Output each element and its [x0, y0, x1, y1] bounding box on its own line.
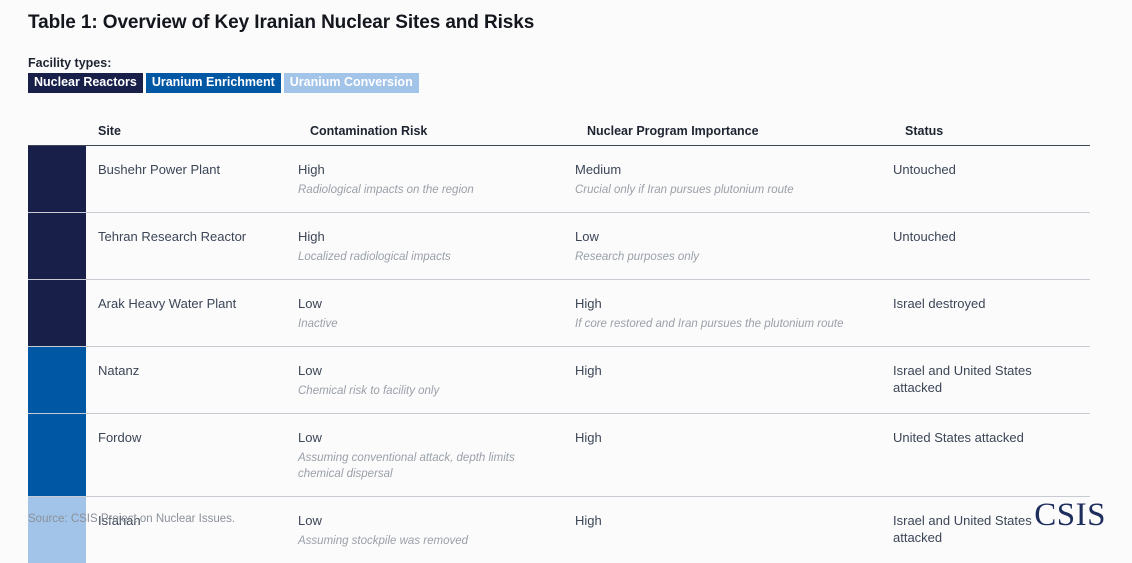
legend-badge-uranium-conversion[interactable]: Uranium Conversion [284, 73, 419, 93]
table-row: Arak Heavy Water PlantLowInactiveHighIf … [28, 280, 1090, 347]
contamination-risk-note: Chemical risk to facility only [298, 383, 561, 399]
nuclear-program-importance-value-cell: High [575, 347, 893, 413]
facility-type-swatch [28, 213, 86, 279]
contamination-risk-value-cell: LowInactive [298, 280, 575, 346]
site-name: Bushehr Power Plant [98, 161, 284, 178]
site-name: Fordow [98, 429, 284, 446]
contamination-risk-value-cell: HighLocalized radiological impacts [298, 213, 575, 279]
nuclear-program-importance-note: If core restored and Iran pursues the pl… [575, 316, 879, 332]
header-swatch-spacer [28, 124, 86, 138]
site-name-cell: Tehran Research Reactor [86, 213, 298, 279]
table-body: Bushehr Power PlantHighRadiological impa… [28, 146, 1090, 563]
contamination-risk-note: Localized radiological impacts [298, 249, 561, 265]
facility-type-swatch [28, 347, 86, 413]
nuclear-program-importance-value-cell: High [575, 497, 893, 563]
status-value-cell: Israel and United States attacked [893, 347, 1090, 413]
site-name-cell: Natanz [86, 347, 298, 413]
status-value: Untouched [893, 161, 1076, 178]
contamination-risk-value: Low [298, 362, 561, 379]
table-row: Bushehr Power PlantHighRadiological impa… [28, 146, 1090, 213]
legend-badge-nuclear-reactors[interactable]: Nuclear Reactors [28, 73, 143, 93]
status-value-cell: Untouched [893, 213, 1090, 279]
page-title: Table 1: Overview of Key Iranian Nuclear… [28, 12, 534, 34]
nuclear-program-importance-value-cell: LowResearch purposes only [575, 213, 893, 279]
legend-badges: Nuclear Reactors Uranium Enrichment Uran… [28, 73, 419, 93]
contamination-risk-note: Assuming stockpile was removed [298, 533, 561, 549]
site-name-cell: Fordow [86, 414, 298, 496]
nuclear-program-importance-value: Low [575, 228, 879, 245]
table-row: NatanzLowChemical risk to facility onlyH… [28, 347, 1090, 414]
status-value-cell: Untouched [893, 146, 1090, 212]
site-name: Tehran Research Reactor [98, 228, 284, 245]
nuclear-program-importance-value-cell: High [575, 414, 893, 496]
column-header-site: Site [86, 124, 310, 138]
contamination-risk-value: Low [298, 512, 561, 529]
status-value-cell: United States attacked [893, 414, 1090, 496]
nuclear-program-importance-value-cell: HighIf core restored and Iran pursues th… [575, 280, 893, 346]
table-row: FordowLowAssuming conventional attack, d… [28, 414, 1090, 497]
nuclear-program-importance-value: High [575, 512, 879, 529]
source-note: Source: CSIS Project on Nuclear Issues. [28, 513, 235, 525]
table-header-row: Site Contamination Risk Nuclear Program … [28, 124, 1090, 146]
contamination-risk-value: Low [298, 429, 561, 446]
contamination-risk-value-cell: LowAssuming stockpile was removed [298, 497, 575, 563]
contamination-risk-value: Low [298, 295, 561, 312]
contamination-risk-note: Radiological impacts on the region [298, 182, 561, 198]
contamination-risk-value: High [298, 161, 561, 178]
nuclear-program-importance-value: High [575, 295, 879, 312]
site-name-cell: Arak Heavy Water Plant [86, 280, 298, 346]
nuclear-program-importance-value: High [575, 362, 879, 379]
site-name-cell: Isfahan [86, 497, 298, 563]
csis-logo: CSIS [1034, 497, 1106, 534]
contamination-risk-value-cell: LowAssuming conventional attack, depth l… [298, 414, 575, 496]
column-header-status: Status [905, 124, 1090, 138]
facility-type-swatch [28, 280, 86, 346]
nuclear-program-importance-note: Research purposes only [575, 249, 879, 265]
nuclear-program-importance-value-cell: MediumCrucial only if Iran pursues pluto… [575, 146, 893, 212]
facility-type-swatch [28, 497, 86, 563]
nuclear-program-importance-value: Medium [575, 161, 879, 178]
status-value: United States attacked [893, 429, 1076, 446]
contamination-risk-note: Assuming conventional attack, depth limi… [298, 450, 561, 482]
table-row: IsfahanLowAssuming stockpile was removed… [28, 497, 1090, 563]
column-header-nuclear-program-importance: Nuclear Program Importance [587, 124, 905, 138]
site-name: Arak Heavy Water Plant [98, 295, 284, 312]
table-figure: Table 1: Overview of Key Iranian Nuclear… [0, 0, 1132, 557]
status-value-cell: Israel destroyed [893, 280, 1090, 346]
table-row: Tehran Research ReactorHighLocalized rad… [28, 213, 1090, 280]
column-header-contamination-risk: Contamination Risk [310, 124, 587, 138]
contamination-risk-value-cell: HighRadiological impacts on the region [298, 146, 575, 212]
facility-type-swatch [28, 146, 86, 212]
facility-type-swatch [28, 414, 86, 496]
contamination-risk-note: Inactive [298, 316, 561, 332]
legend: Facility types: Nuclear Reactors Uranium… [28, 56, 419, 93]
contamination-risk-value-cell: LowChemical risk to facility only [298, 347, 575, 413]
contamination-risk-value: High [298, 228, 561, 245]
status-value: Israel and United States attacked [893, 362, 1076, 396]
nuclear-program-importance-note: Crucial only if Iran pursues plutonium r… [575, 182, 879, 198]
status-value: Untouched [893, 228, 1076, 245]
data-table: Site Contamination Risk Nuclear Program … [28, 124, 1090, 563]
site-name: Natanz [98, 362, 284, 379]
legend-badge-uranium-enrichment[interactable]: Uranium Enrichment [146, 73, 281, 93]
status-value: Israel destroyed [893, 295, 1076, 312]
legend-label: Facility types: [28, 56, 419, 70]
site-name-cell: Bushehr Power Plant [86, 146, 298, 212]
nuclear-program-importance-value: High [575, 429, 879, 446]
